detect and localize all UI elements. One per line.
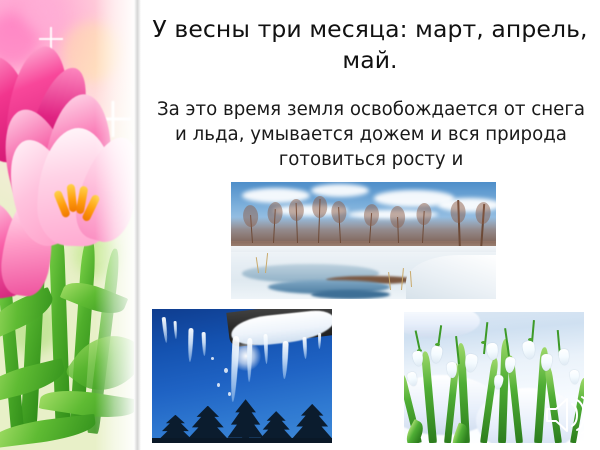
slide-title: У весны три месяца: март, апрель, май. <box>150 14 590 76</box>
water-drop <box>217 383 220 387</box>
meltwater <box>311 290 391 299</box>
sparkle-icon <box>50 38 52 40</box>
pine-silhouettes <box>152 397 332 443</box>
sound-speaker-icon[interactable] <box>543 392 591 438</box>
snowdrop-flower <box>569 369 579 383</box>
melting-icicles-photo[interactable] <box>152 309 332 443</box>
water-drop <box>228 392 231 396</box>
spring-thaw-landscape-photo[interactable] <box>231 182 496 299</box>
floral-border-decoration <box>0 0 141 450</box>
horizon-line <box>152 438 332 443</box>
pine-tree <box>224 399 267 443</box>
tulip-stamen <box>58 184 98 226</box>
water-drop <box>224 368 228 373</box>
slide-body-text: За это время земля освобождается от снег… <box>152 97 590 172</box>
border-edge-line <box>134 0 141 450</box>
presentation-slide: У весны три месяца: март, апрель, май. З… <box>0 0 600 450</box>
